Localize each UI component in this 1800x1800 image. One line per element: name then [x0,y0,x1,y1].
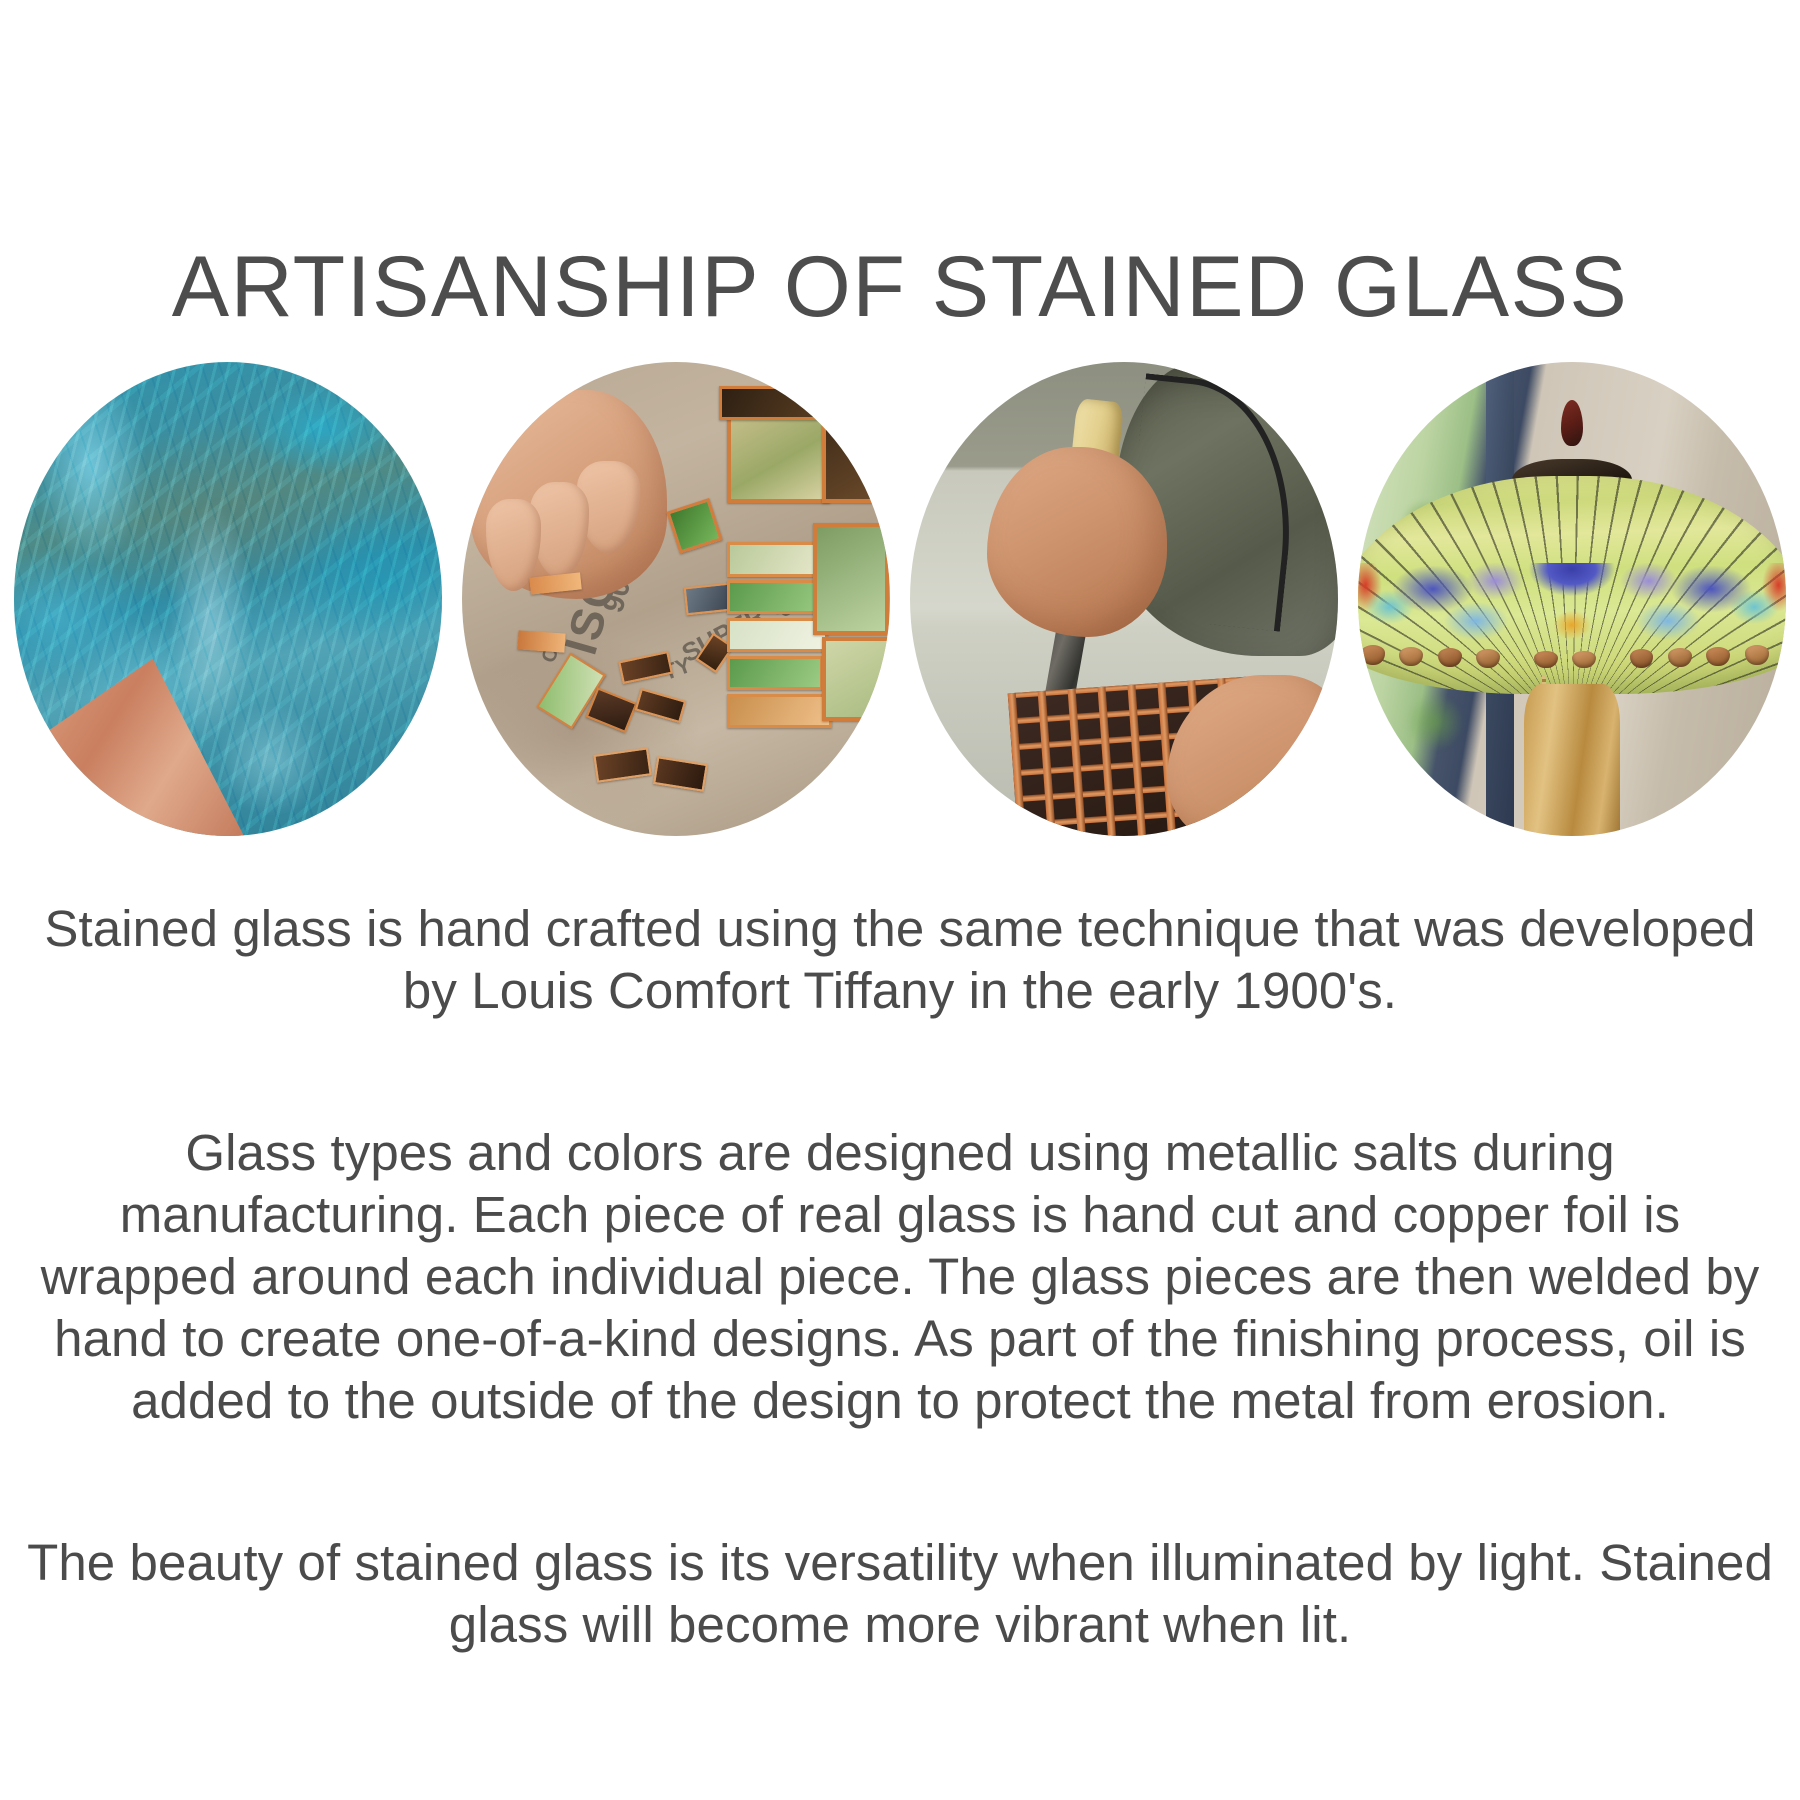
gallery-image-blue-marbled-glass-sheet [14,362,442,836]
glass-pieces-art: ISO 9001:20 SUPER QU TY CA [462,362,890,836]
stained-glass-lamp-shade [1358,476,1786,694]
lamp-finial [1561,400,1583,446]
glass-panel-piece [822,409,890,502]
glass-panel-piece [822,637,890,721]
glass-panel-piece [813,523,889,635]
amber-jewel [1572,651,1596,668]
glass-panel-piece [719,386,836,420]
glass-panel-piece [727,694,831,728]
amber-jewel [1668,648,1692,667]
paragraph-2: Glass types and colors are designed usin… [22,1122,1778,1432]
gallery-image-tiffany-lamp-lit [1358,362,1786,836]
gallery-image-copper-foiled-glass-pieces: ISO 9001:20 SUPER QU TY CA [462,362,890,836]
amber-jewel [1399,647,1423,666]
image-gallery-strip: ISO 9001:20 SUPER QU TY CA [14,362,1786,836]
glass-panel-piece [727,656,823,690]
glass-chip [683,582,732,614]
amber-jewel [1630,649,1654,668]
shade-jewel-row [1358,628,1786,685]
amber-jewel [1438,648,1462,667]
page-title: ARTISANSHIP OF STAINED GLASS [0,244,1800,330]
lamp-base [1524,684,1620,836]
soldering-art [910,362,1338,836]
amber-jewel [1476,649,1500,668]
gallery-image-soldering-stained-glass [910,362,1338,836]
amber-jewel [1706,647,1730,666]
paragraph-1: Stained glass is hand crafted using the … [22,898,1778,1022]
amber-jewel [1361,645,1385,664]
glass-panel-piece [727,542,819,576]
blue-marbled-glass-art [14,362,442,836]
hand-holding-iron [987,447,1167,637]
body-copy: Stained glass is hand crafted using the … [22,898,1778,1656]
paragraph-3: The beauty of stained glass is its versa… [22,1532,1778,1656]
amber-jewel [1745,645,1769,664]
glass-chip [517,631,565,653]
tiffany-lamp-art [1358,362,1786,836]
amber-jewel [1534,651,1558,668]
glass-panel-piece [727,409,829,502]
infographic-page: ARTISANSHIP OF STAINED GLASS ISO 9001:20… [0,0,1800,1800]
